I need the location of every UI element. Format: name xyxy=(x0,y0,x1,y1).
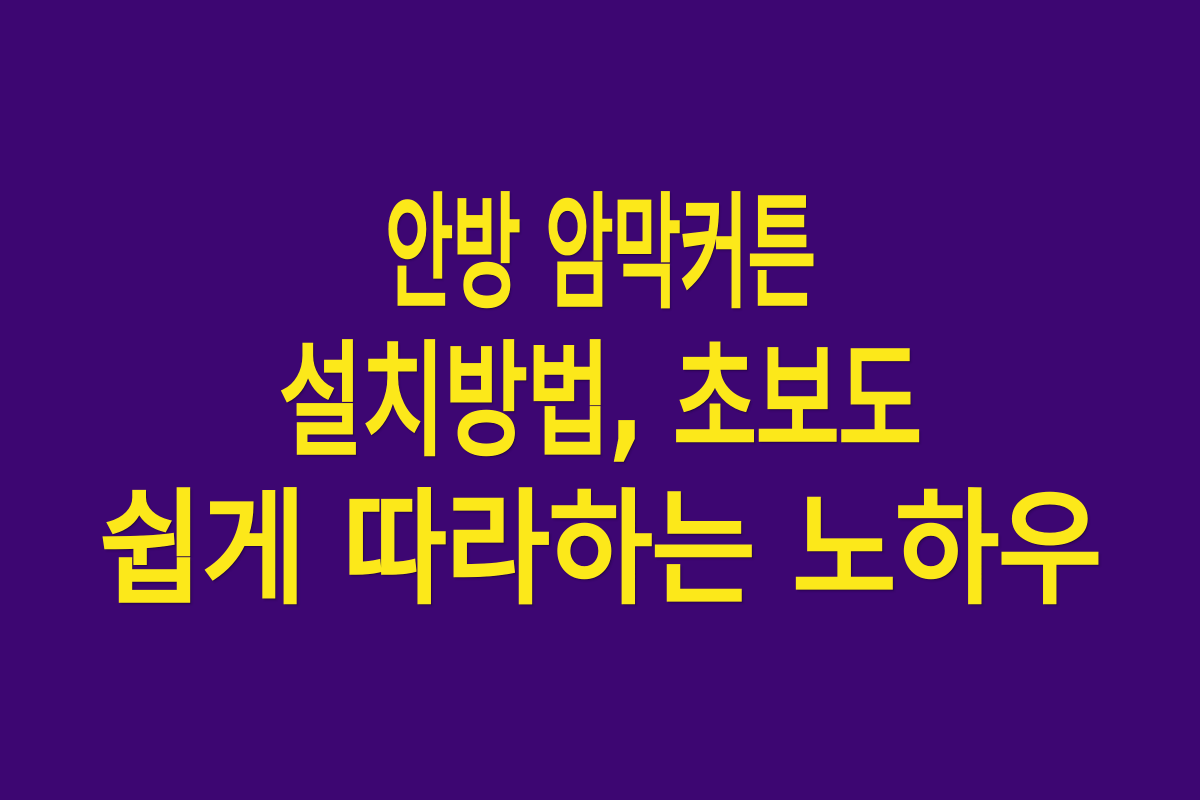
headline-block: 안방 암막커튼 설치방법, 초보도 쉽게 따라하는 노하우 xyxy=(0,180,1200,624)
headline-line-1: 안방 암막커튼 xyxy=(240,180,960,328)
headline-line-2: 설치방법, 초보도 xyxy=(160,328,1040,476)
thumbnail-canvas: 안방 암막커튼 설치방법, 초보도 쉽게 따라하는 노하우 xyxy=(0,0,1200,800)
headline-line-3: 쉽게 따라하는 노하우 xyxy=(52,476,1148,624)
